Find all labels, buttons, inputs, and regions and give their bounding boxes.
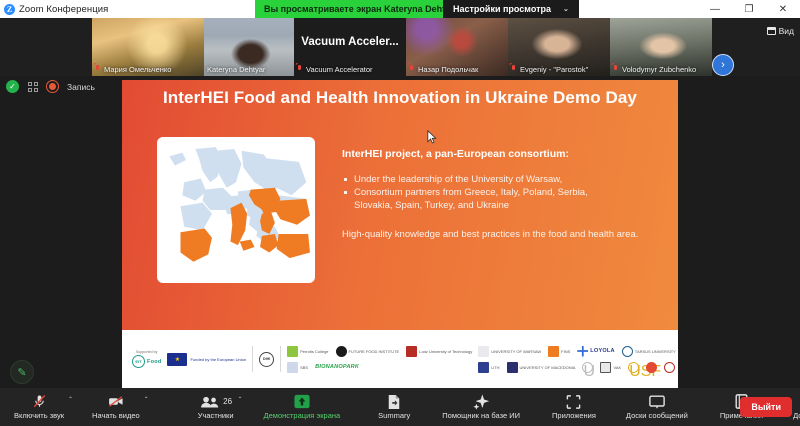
logo-row: SBS BIONANOPARK xyxy=(287,362,472,373)
logo-eit-food: Supported by EIT Food xyxy=(132,350,161,368)
grid-view-icon[interactable] xyxy=(28,82,38,92)
mic-muted-icon xyxy=(297,65,303,74)
toolbar-label: Начать видео xyxy=(92,411,140,420)
logo-tarsus-university: TARSUS UNIVERSITY xyxy=(622,346,676,357)
logo-mark xyxy=(548,346,559,357)
toolbar-apps[interactable]: Приложения xyxy=(544,388,604,426)
mic-muted-icon xyxy=(613,65,619,74)
toolbar-label: Summary xyxy=(378,411,410,420)
logo-mark: U xyxy=(582,362,593,373)
logo-label: Food xyxy=(147,359,161,365)
slide-footer-text: High-quality knowledge and best practice… xyxy=(342,228,652,241)
whiteboard-icon xyxy=(649,394,665,409)
mic-muted-icon xyxy=(409,65,415,74)
toolbar-share-screen[interactable]: Демонстрация экрана xyxy=(256,388,349,426)
sponsor-logo-bar: Supported by EIT Food ★ Funded by the Eu… xyxy=(122,330,678,388)
logo-fins: FINS xyxy=(548,346,570,357)
europe-map-card xyxy=(157,137,315,283)
logo-future-food-institute: FUTURE FOOD INSTITUTE xyxy=(336,346,400,357)
logo-vak: VAK xyxy=(600,362,621,373)
logo-sbs: SBS xyxy=(287,362,308,373)
divider xyxy=(280,346,281,372)
eit-food-mark: EIT Food xyxy=(132,355,161,368)
window-title: Zoom Конференция xyxy=(19,4,108,15)
apps-icon xyxy=(566,394,581,409)
logo-label: SBS xyxy=(300,365,308,370)
slide-body: InterHEI project, a pan-European consort… xyxy=(342,148,652,241)
logo-molecule xyxy=(646,362,657,373)
microphone-muted-icon xyxy=(32,394,47,409)
logo-university-of-warsaw: UNIVERSITY OF WARSAW xyxy=(478,346,541,357)
logo-university-of-macedonia: UNIVERSITY OF MACEDONIA xyxy=(507,362,576,373)
thumbnail-nazar-podolchak[interactable]: Назар Подольчак xyxy=(406,18,508,76)
logo-row: Perrotis College FUTURE FOOD INSTITUTE L… xyxy=(287,346,472,357)
mic-muted-icon xyxy=(511,65,517,74)
europe-map-svg xyxy=(162,142,310,278)
logo-row: UTH UNIVERSITY OF MACEDONIA U VAK USF xyxy=(478,362,678,373)
chevron-up-icon[interactable]: ⌃ xyxy=(68,396,73,403)
logo-row: UNIVERSITY OF WARSAW FINS LOYOLA TARSUS … xyxy=(478,346,678,357)
zoom-logo-icon: Z xyxy=(4,4,15,15)
leave-meeting-button[interactable]: Выйти xyxy=(740,397,792,417)
shared-screen-slide: InterHEI Food and Health Innovation in U… xyxy=(122,80,678,388)
shield-check-icon[interactable]: ✓ xyxy=(6,80,19,93)
logo-bionanopark: BIONANOPARK xyxy=(315,364,359,370)
toolbar-participants[interactable]: 26 Участники ⌃ xyxy=(190,388,242,426)
logo-mark xyxy=(406,346,417,357)
slide-bullet-list: Under the leadership of the University o… xyxy=(342,173,652,212)
toolbar-label: Доски сообщений xyxy=(626,411,688,420)
mic-muted-icon xyxy=(95,65,101,74)
logo-label: FUTURE FOOD INSTITUTE xyxy=(349,349,400,354)
logo-loyola: LOYOLA xyxy=(577,346,615,357)
divider xyxy=(252,346,253,372)
toolbar-ai-companion[interactable]: Помощник на базе ИИ xyxy=(434,388,528,426)
toolbar-label: Помощник на базе ИИ xyxy=(442,411,520,420)
logo-mark xyxy=(478,346,489,357)
logo-usf: USF xyxy=(628,362,639,373)
thumbnail-label: Kateryna Dehtyar xyxy=(204,63,294,76)
logo-partner-circle xyxy=(664,362,675,373)
share-screen-icon xyxy=(294,394,310,409)
meeting-status-row: ✓ Запись xyxy=(6,80,95,93)
logo-label: FINS xyxy=(561,349,570,354)
eu-flag-icon: ★ xyxy=(167,353,187,366)
logo-european-union: ★ Funded by the European Union xyxy=(167,353,246,366)
chevron-down-icon: ⌄ xyxy=(563,5,569,13)
logo-lodz-university: Lodz University of Technology xyxy=(406,346,472,357)
logo-label: Lodz University of Technology xyxy=(419,349,472,354)
meeting-toolbar: Включить звук ⌃ Начать видео ⌃ xyxy=(0,388,800,426)
logo-label: TARSUS UNIVERSITY xyxy=(635,349,676,354)
chevron-up-icon[interactable]: ⌃ xyxy=(238,396,243,403)
logo-mark xyxy=(664,362,675,373)
logo-mark xyxy=(287,362,298,373)
logo-uth: UTH xyxy=(478,362,499,373)
thumbnail-evgeniy-parostok[interactable]: Evgeniy - "Parostok" xyxy=(508,18,610,76)
toolbar-whiteboards[interactable]: Доски сообщений xyxy=(618,388,696,426)
summary-document-icon xyxy=(387,394,401,409)
toolbar-label: Приложения xyxy=(552,411,596,420)
logo-mark xyxy=(577,346,588,357)
thumbnail-volodymyr-zubchenko[interactable]: Volodymyr Zubchenko xyxy=(610,18,712,76)
title-bar: Z Zoom Конференция Вы просматриваете экр… xyxy=(0,0,800,18)
bullet-item: Under the leadership of the University o… xyxy=(342,173,652,186)
next-page-button[interactable]: › xyxy=(712,54,734,76)
dihi-badge-icon: DIHI xyxy=(259,352,274,367)
slide-title: InterHEI Food and Health Innovation in U… xyxy=(122,88,678,108)
layout-grid-icon xyxy=(767,27,776,35)
logo-dihi: DIHI xyxy=(259,352,274,367)
logo-group-b: UNIVERSITY OF WARSAW FINS LOYOLA TARSUS … xyxy=(478,346,678,373)
logo-u-mark: U xyxy=(582,362,593,373)
logo-mark xyxy=(646,362,657,373)
logo-mark xyxy=(600,362,611,373)
logo-label: VAK xyxy=(613,365,621,370)
zoom-meeting-window: Z Zoom Конференция Вы просматриваете экр… xyxy=(0,0,800,426)
thumbnail-vacuum-accelerator[interactable]: Vacuum Acceler... Vacuum Accelerator xyxy=(294,18,406,76)
logo-perrotis-college: Perrotis College xyxy=(287,346,328,357)
view-label: Вид xyxy=(779,26,794,36)
view-settings-button[interactable]: Настройки просмотра ⌄ xyxy=(443,0,579,18)
logo-group-a: Perrotis College FUTURE FOOD INSTITUTE L… xyxy=(287,346,472,373)
thumbnail-mariya-omelchenko[interactable]: Мария Омельченко xyxy=(92,18,204,76)
participant-count: 26 xyxy=(223,397,232,406)
slide-body-heading: InterHEI project, a pan-European consort… xyxy=(342,148,652,160)
toolbar-summary[interactable]: Summary xyxy=(370,388,418,426)
logo-mark xyxy=(478,362,489,373)
thumbnail-label: Evgeniy - "Parostok" xyxy=(508,63,610,76)
logo-label: Perrotis College xyxy=(300,349,328,354)
view-settings-label: Настройки просмотра xyxy=(453,4,551,14)
toolbar-start-video[interactable]: Начать видео ⌃ xyxy=(84,388,148,426)
logo-label: UNIVERSITY OF WARSAW xyxy=(491,349,541,354)
eit-ring-icon: EIT xyxy=(132,355,145,368)
logo-mark xyxy=(622,346,633,357)
record-dot-icon[interactable] xyxy=(47,81,58,92)
minimize-button[interactable]: — xyxy=(698,0,732,18)
logo-label: Funded by the European Union xyxy=(190,357,246,362)
logo-supported-by: Supported by xyxy=(136,350,157,354)
maximize-button[interactable]: ❐ xyxy=(732,0,766,18)
europe-map-image xyxy=(162,142,310,278)
close-button[interactable]: ✕ xyxy=(766,0,800,18)
thumbnail-label: Vacuum Accelerator xyxy=(294,63,406,76)
thumbnail-label: Назар Подольчак xyxy=(406,63,508,76)
screen-share-banner: Вы просматриваете экран Kateryna Dehtyar xyxy=(255,0,468,18)
thumbnail-kateryna-dehtyar[interactable]: Kateryna Dehtyar xyxy=(204,18,294,76)
toolbar-label: Включить звук xyxy=(14,411,64,420)
participants-icon: 26 xyxy=(199,394,232,409)
logo-mark xyxy=(287,346,298,357)
logo-mark: USF xyxy=(628,362,639,373)
recording-label: Запись xyxy=(67,82,95,92)
thumbnail-label: Volodymyr Zubchenko xyxy=(610,63,712,76)
thumbnail-label: Мария Омельченко xyxy=(92,63,204,76)
toolbar-unmute-audio[interactable]: Включить звук ⌃ xyxy=(6,388,72,426)
logo-label: LOYOLA xyxy=(590,348,615,354)
bullet-item: Consortium partners from Greece, Italy, … xyxy=(342,186,652,199)
ai-sparkle-icon xyxy=(473,394,490,409)
window-controls: — ❐ ✕ xyxy=(698,0,800,18)
logo-mark xyxy=(507,362,518,373)
participant-thumbnail-strip[interactable]: Мария Омельченко Kateryna Dehtyar Vacuum… xyxy=(0,18,800,76)
camera-muted-icon xyxy=(108,394,124,409)
pencil-icon[interactable]: ✎ xyxy=(10,360,34,384)
logo-mark xyxy=(336,346,347,357)
toolbar-label: Участники xyxy=(198,411,234,420)
logo-label: UNIVERSITY OF MACEDONIA xyxy=(520,365,576,370)
toolbar-label: Дополнительно xyxy=(793,411,800,420)
view-layout-button[interactable]: Вид xyxy=(767,26,794,36)
logo-label: UTH xyxy=(491,365,499,370)
chevron-up-icon[interactable]: ⌃ xyxy=(144,396,149,403)
bullet-item-continuation: Slovakia, Spain, Turkey, and Ukraine xyxy=(342,199,652,212)
toolbar-label: Демонстрация экрана xyxy=(264,411,341,420)
